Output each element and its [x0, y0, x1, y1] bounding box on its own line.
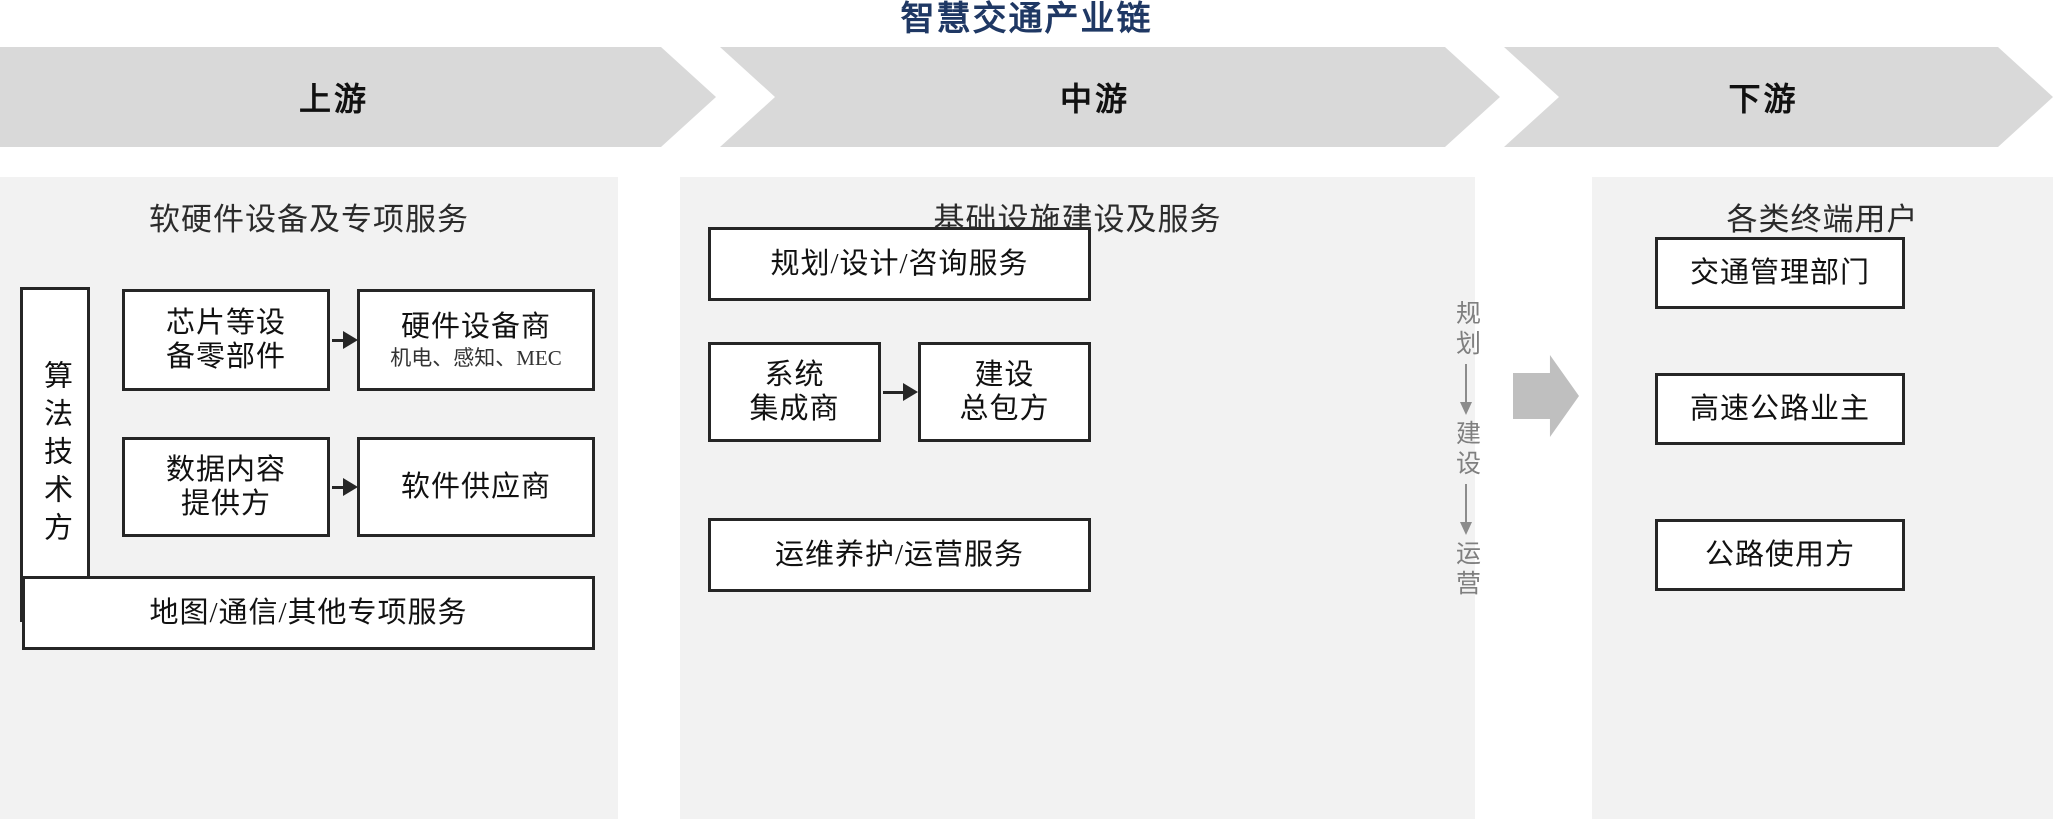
- box-chip-components-label: 芯片等设备零部件: [166, 306, 286, 374]
- box-chip-components[interactable]: 芯片等设备零部件: [122, 289, 330, 391]
- phase-label-operation: 运营: [1454, 540, 1479, 600]
- box-om-operation-service-label: 运维养护/运营服务: [775, 538, 1024, 572]
- box-special-services-label: 地图/通信/其他专项服务: [149, 596, 467, 630]
- box-road-user[interactable]: 公路使用方: [1655, 519, 1905, 591]
- box-data-content-provider[interactable]: 数据内容提供方: [122, 437, 330, 537]
- box-traffic-authority[interactable]: 交通管理部门: [1655, 237, 1905, 309]
- arrow-shaft: [332, 339, 343, 342]
- arrow-head: [343, 331, 358, 349]
- box-software-vendor-label: 软件供应商: [401, 470, 551, 504]
- phase-down-arrow-icon: [1457, 484, 1475, 536]
- stage-label-upstream: 上游: [299, 74, 369, 120]
- box-system-integrator[interactable]: 系统集成商: [708, 342, 881, 442]
- box-om-operation-service[interactable]: 运维养护/运营服务: [708, 518, 1091, 592]
- box-software-vendor[interactable]: 软件供应商: [357, 437, 595, 537]
- box-highway-owner-label: 高速公路业主: [1690, 392, 1870, 426]
- box-system-integrator-label: 系统集成商: [749, 358, 839, 426]
- box-planning-design-consulting-label: 规划/设计/咨询服务: [770, 247, 1028, 281]
- phase-label-construction: 建设: [1454, 420, 1479, 480]
- stage-chevron-downstream[interactable]: 下游: [1504, 47, 2053, 147]
- box-hardware-vendor[interactable]: 硬件设备商 机电、感知、MEC: [357, 289, 595, 391]
- box-algorithm-provider-label: 算法技术方: [41, 360, 70, 550]
- arrow-data-to-software-icon: [332, 479, 358, 495]
- box-algorithm-provider[interactable]: 算法技术方: [20, 287, 90, 622]
- page-title: 智慧交通产业链: [0, 0, 2053, 42]
- stage-header-band: 上游 中游 下游: [0, 47, 2053, 147]
- box-road-user-label: 公路使用方: [1705, 538, 1855, 572]
- stage-chevron-midstream[interactable]: 中游: [720, 47, 1500, 147]
- box-general-contractor-label: 建设总包方: [959, 358, 1049, 426]
- stage-label-midstream: 中游: [1060, 74, 1130, 120]
- box-general-contractor[interactable]: 建设总包方: [918, 342, 1091, 442]
- stage-flow-arrow-midstream-to-downstream-icon: [1513, 355, 1579, 437]
- arrow-shaft: [883, 391, 903, 394]
- box-planning-design-consulting[interactable]: 规划/设计/咨询服务: [708, 227, 1091, 301]
- phase-label-planning: 规划: [1454, 300, 1479, 360]
- arrow-head: [903, 383, 918, 401]
- box-special-services[interactable]: 地图/通信/其他专项服务: [22, 576, 595, 650]
- phase-down-arrow-icon: [1457, 364, 1475, 416]
- panel-heading-upstream: 软硬件设备及专项服务: [0, 177, 618, 263]
- arrow-shaft: [332, 486, 343, 489]
- box-traffic-authority-label: 交通管理部门: [1690, 256, 1870, 290]
- box-hardware-vendor-label: 硬件设备商: [401, 310, 551, 344]
- box-hardware-vendor-subtext: 机电、感知、MEC: [390, 346, 562, 370]
- arrow-chip-to-hardware-icon: [332, 332, 358, 348]
- phase-progression-rail: 规划 建设 运营: [1444, 300, 1488, 600]
- stage-chevron-upstream[interactable]: 上游: [0, 47, 716, 147]
- box-highway-owner[interactable]: 高速公路业主: [1655, 373, 1905, 445]
- stage-label-downstream: 下游: [1728, 74, 1798, 120]
- arrow-head: [343, 478, 358, 496]
- arrow-integrator-to-contractor-icon: [883, 384, 918, 400]
- box-data-content-provider-label: 数据内容提供方: [166, 453, 286, 521]
